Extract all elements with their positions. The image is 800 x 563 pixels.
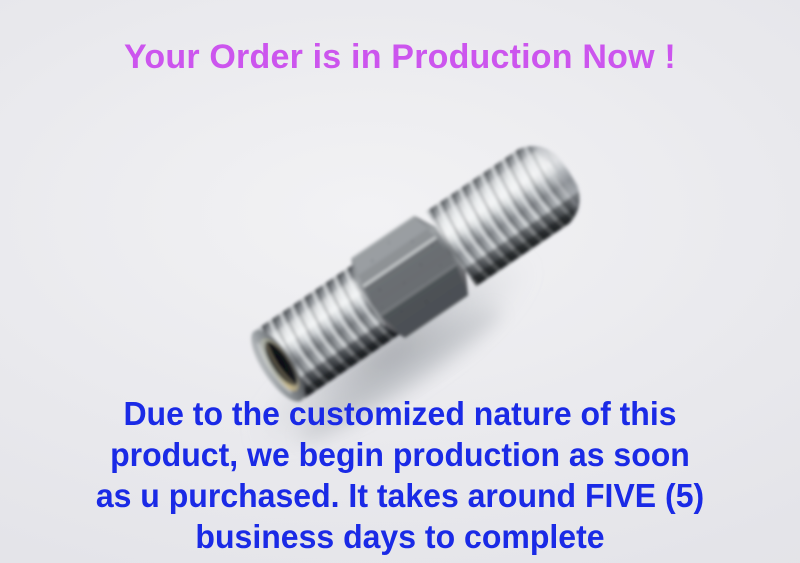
hex-nipple-body (239, 124, 605, 415)
notice-line-2: product, we begin production as soon (12, 434, 788, 475)
notice-line-3: as u purchased. It takes around FIVE (5) (12, 475, 788, 516)
left-threaded-barrel (241, 252, 419, 413)
notice-image-canvas: Your Order is in Production Now ! (0, 0, 800, 563)
hex-center-section (343, 209, 478, 343)
production-notice-text: Due to the customized nature of this pro… (0, 393, 800, 557)
notice-line-1: Due to the customized nature of this (12, 393, 788, 434)
notice-line-4: business days to complete (12, 516, 788, 557)
headline-text: Your Order is in Production Now ! (0, 36, 800, 78)
bore-opening (260, 337, 303, 390)
right-threaded-barrel (422, 126, 604, 292)
